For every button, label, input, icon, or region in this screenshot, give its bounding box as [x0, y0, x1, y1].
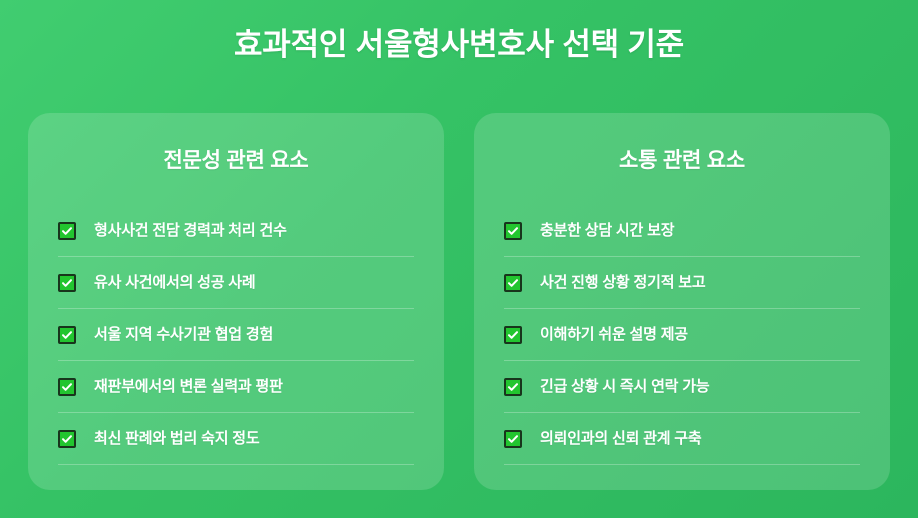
list-item[interactable]: 유사 사건에서의 성공 사례: [58, 257, 414, 309]
list-item-label: 재판부에서의 변론 실력과 평판: [94, 377, 283, 397]
list-item[interactable]: 의뢰인과의 신뢰 관계 구축: [504, 413, 860, 465]
check-list-communication: 충분한 상담 시간 보장 사건 진행 상황 정기적 보고: [504, 205, 860, 465]
list-item[interactable]: 이해하기 쉬운 설명 제공: [504, 309, 860, 361]
card-communication: 소통 관련 요소 충분한 상담 시간 보장: [474, 113, 890, 490]
list-item-label: 긴급 상황 시 즉시 연락 가능: [540, 377, 709, 397]
infographic-root: 효과적인 서울형사변호사 선택 기준 전문성 관련 요소 형사사건 전담 경력과…: [0, 0, 918, 518]
list-item[interactable]: 최신 판례와 법리 숙지 정도: [58, 413, 414, 465]
list-item[interactable]: 충분한 상담 시간 보장: [504, 205, 860, 257]
checkbox-checked-icon[interactable]: [58, 274, 76, 292]
card-title-expertise: 전문성 관련 요소: [58, 147, 414, 175]
checkbox-checked-icon[interactable]: [504, 222, 522, 240]
list-item-label: 유사 사건에서의 성공 사례: [94, 273, 256, 293]
list-item-label: 형사사건 전담 경력과 처리 건수: [94, 221, 287, 241]
list-item-label: 사건 진행 상황 정기적 보고: [540, 273, 705, 293]
list-item[interactable]: 재판부에서의 변론 실력과 평판: [58, 361, 414, 413]
checkbox-checked-icon[interactable]: [58, 430, 76, 448]
list-item-label: 의뢰인과의 신뢰 관계 구축: [540, 429, 702, 449]
card-title-communication: 소통 관련 요소: [504, 147, 860, 175]
list-item-label: 충분한 상담 시간 보장: [540, 221, 674, 241]
list-item[interactable]: 형사사건 전담 경력과 처리 건수: [58, 205, 414, 257]
checkbox-checked-icon[interactable]: [504, 378, 522, 396]
checkbox-checked-icon[interactable]: [58, 326, 76, 344]
list-item[interactable]: 사건 진행 상황 정기적 보고: [504, 257, 860, 309]
list-item-label: 서울 지역 수사기관 협업 경험: [94, 325, 273, 345]
card-expertise: 전문성 관련 요소 형사사건 전담 경력과 처리 건수: [28, 113, 444, 490]
checkbox-checked-icon[interactable]: [58, 378, 76, 396]
list-item-label: 이해하기 쉬운 설명 제공: [540, 325, 688, 345]
checkbox-checked-icon[interactable]: [504, 430, 522, 448]
checkbox-checked-icon[interactable]: [58, 222, 76, 240]
page-title: 효과적인 서울형사변호사 선택 기준: [0, 24, 918, 66]
cards-container: 전문성 관련 요소 형사사건 전담 경력과 처리 건수: [28, 113, 890, 490]
check-list-expertise: 형사사건 전담 경력과 처리 건수 유사 사건에서의 성공 사례: [58, 205, 414, 465]
list-item[interactable]: 서울 지역 수사기관 협업 경험: [58, 309, 414, 361]
checkbox-checked-icon[interactable]: [504, 326, 522, 344]
list-item[interactable]: 긴급 상황 시 즉시 연락 가능: [504, 361, 860, 413]
list-item-label: 최신 판례와 법리 숙지 정도: [94, 429, 259, 449]
checkbox-checked-icon[interactable]: [504, 274, 522, 292]
